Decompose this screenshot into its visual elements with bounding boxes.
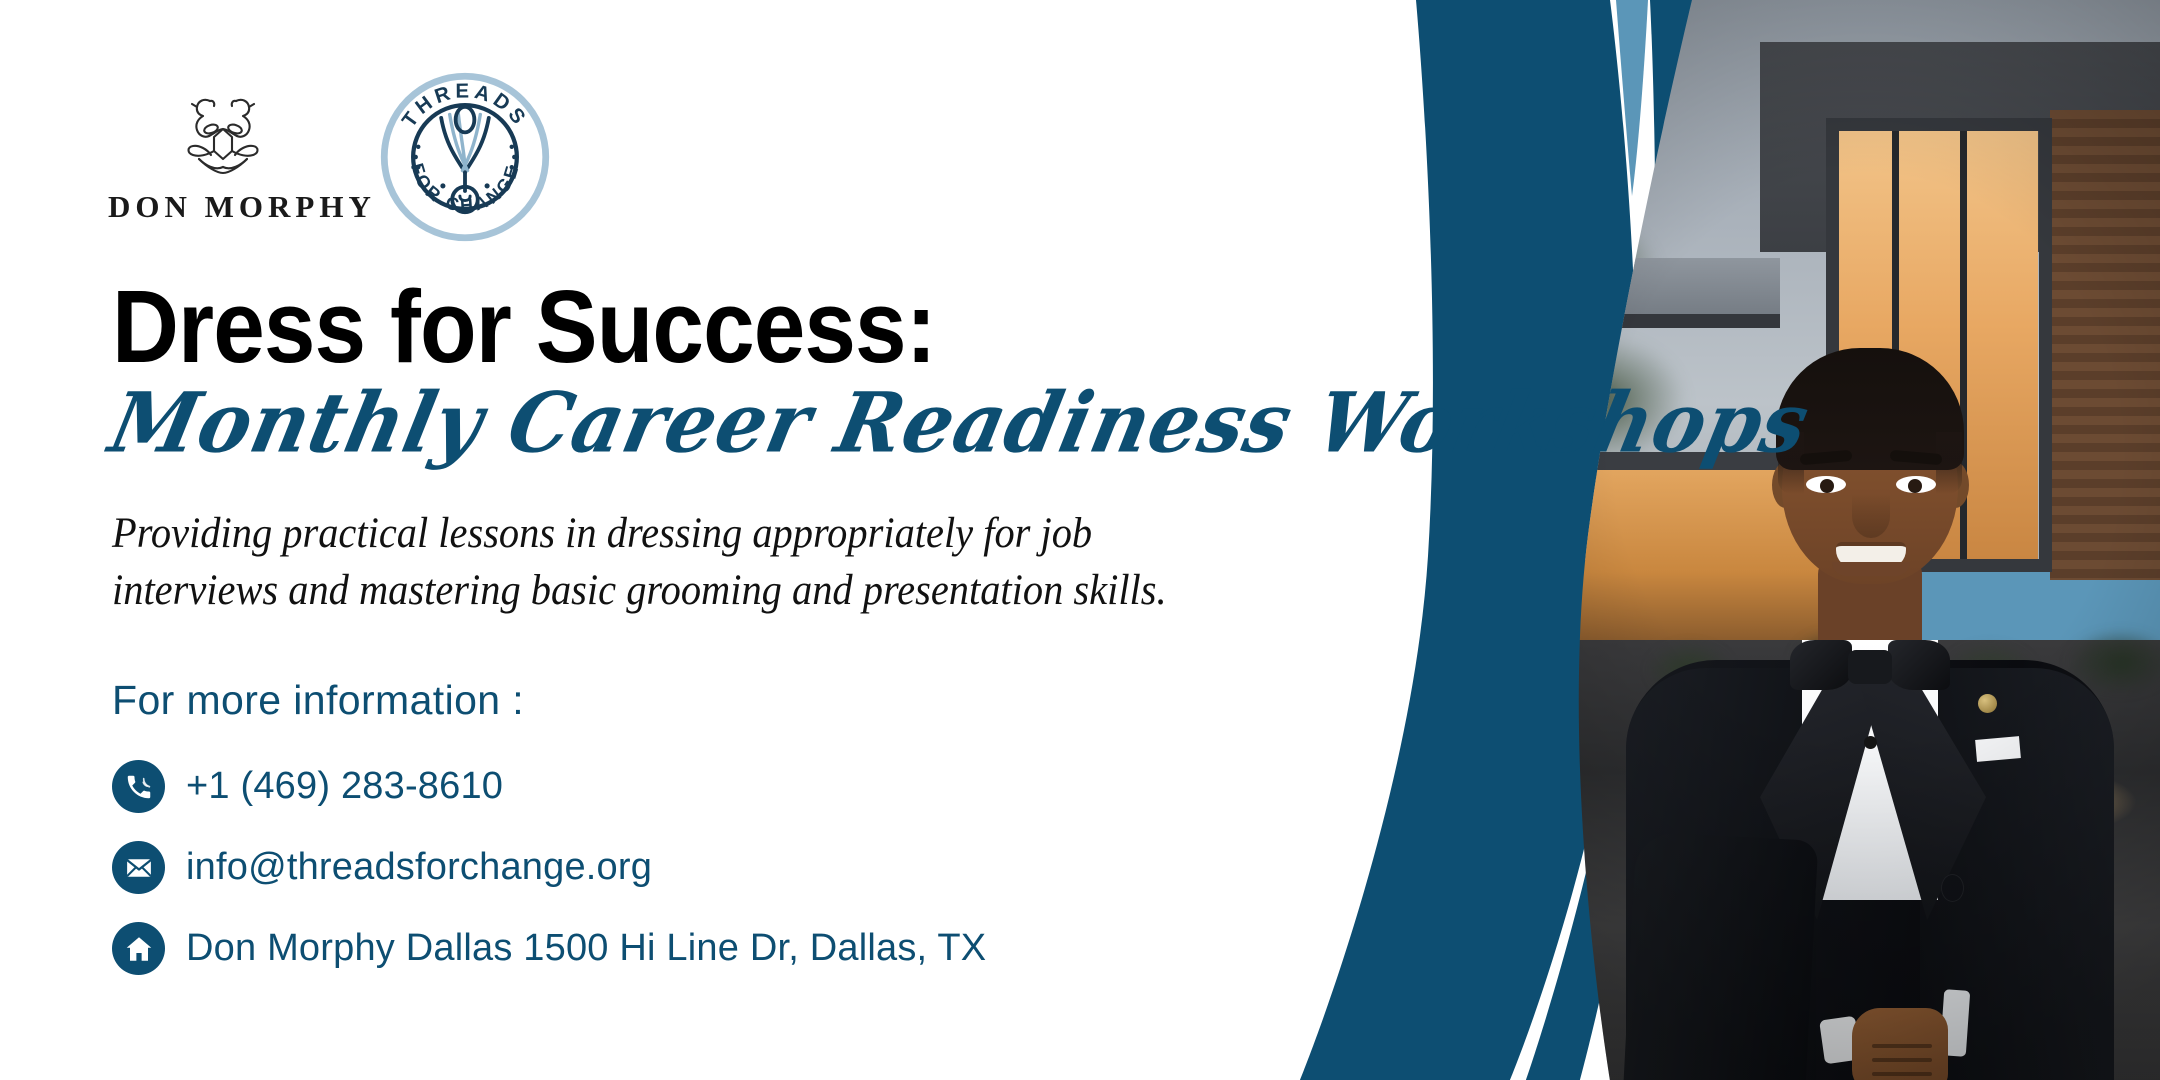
phone-number: +1 (469) 283-8610 xyxy=(186,765,503,808)
email-address: info@threadsforchange.org xyxy=(186,846,652,889)
twin-seahorse-crest-icon xyxy=(163,89,283,185)
page-title: Dress for Success: xyxy=(112,275,936,378)
don-morphy-wordmark: DON MORPHY xyxy=(108,189,338,225)
page-subtitle-script: Monthly Career Readiness Workshops xyxy=(103,383,1816,466)
phone-ringing-icon xyxy=(112,760,165,813)
threads-for-change-logo: THREADS FOR CHANGE xyxy=(380,72,550,242)
street-address: Don Morphy Dallas 1500 Hi Line Dr, Dalla… xyxy=(186,927,986,970)
contact-item-phone[interactable]: +1 (469) 283-8610 xyxy=(112,760,986,813)
don-morphy-logo: DON MORPHY xyxy=(108,89,338,225)
contact-item-address[interactable]: Don Morphy Dallas 1500 Hi Line Dr, Dalla… xyxy=(112,922,986,975)
contact-list: +1 (469) 283-8610 info@threadsforchange.… xyxy=(112,760,986,975)
content-column: DON MORPHY xyxy=(0,0,1240,1080)
contact-item-email[interactable]: info@threadsforchange.org xyxy=(112,841,986,894)
envelope-icon xyxy=(112,841,165,894)
flyer-canvas: DON MORPHY xyxy=(0,0,2160,1080)
contact-heading: For more information : xyxy=(112,677,524,724)
description-text: Providing practical lessons in dressing … xyxy=(112,505,1240,619)
home-icon xyxy=(112,922,165,975)
logo-row: DON MORPHY xyxy=(108,72,550,242)
right-decorative-panel xyxy=(1180,0,2160,1080)
